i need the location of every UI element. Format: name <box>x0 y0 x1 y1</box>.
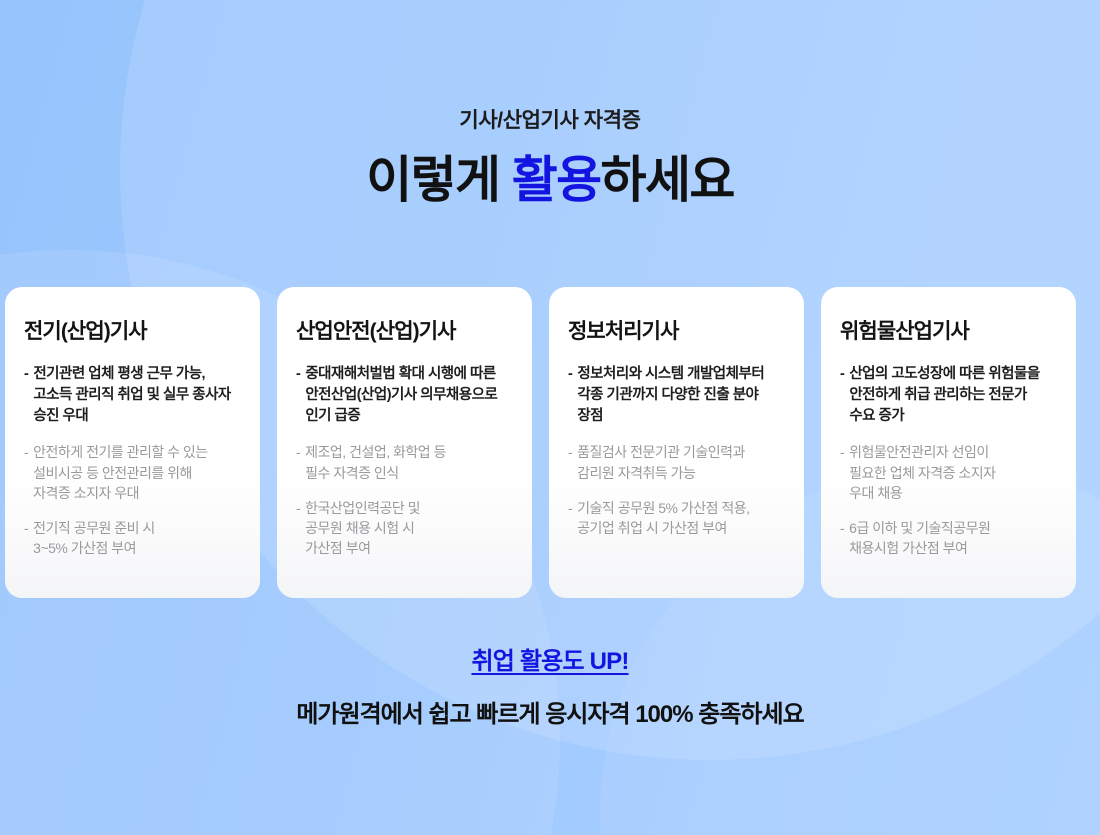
bullet-dash-icon: - <box>568 498 572 518</box>
bullet-dash-icon: - <box>24 442 28 462</box>
bullet-text: 품질검사 전문기관 기술인력과 감리원 자격취득 가능 <box>577 442 745 483</box>
bullet-dash-icon: - <box>840 442 844 462</box>
promo-page: 기사/산업기사 자격증 이렇게 활용하세요 전기(산업)기사-전기관련 업체 평… <box>0 0 1100 835</box>
card-title: 위험물산업기사 <box>840 319 1057 344</box>
certificate-card-list: 전기(산업)기사-전기관련 업체 평생 근무 가능, 고소득 관리직 취업 및 … <box>5 287 1095 598</box>
card-bullet: -정보처리와 시스템 개발업체부터 각종 기관까지 다양한 진출 분야 장점 <box>568 364 785 427</box>
bullet-text: 산업의 고도성장에 따른 위험물을 안전하게 취급 관리하는 전문가 수요 증가 <box>849 364 1039 427</box>
bullet-text: 기술직 공무원 5% 가산점 적용, 공기업 취업 시 가산점 부여 <box>577 498 749 539</box>
bullet-dash-icon: - <box>568 442 572 462</box>
certificate-card: 전기(산업)기사-전기관련 업체 평생 근무 가능, 고소득 관리직 취업 및 … <box>5 287 260 598</box>
bullet-text: 정보처리와 시스템 개발업체부터 각종 기관까지 다양한 진출 분야 장점 <box>577 364 764 427</box>
bullet-dash-icon: - <box>840 364 844 385</box>
headline-part-1: 이렇게 <box>366 152 512 208</box>
bullet-text: 위험물안전관리자 선임이 필요한 업체 자격증 소지자 우대 채용 <box>849 442 995 503</box>
card-bullet: -전기직 공무원 준비 시 3~5% 가산점 부여 <box>24 518 241 559</box>
bullet-dash-icon: - <box>24 518 28 538</box>
eyebrow-text: 기사/산업기사 자격증 <box>0 108 1100 133</box>
card-title: 정보처리기사 <box>568 319 785 344</box>
card-bullet: -산업의 고도성장에 따른 위험물을 안전하게 취급 관리하는 전문가 수요 증… <box>840 364 1057 427</box>
footer-cta-link[interactable]: 취업 활용도 UP! <box>471 641 628 676</box>
footer-subtitle: 메가원격에서 쉽고 빠르게 응시자격 100% 충족하세요 <box>0 694 1100 729</box>
card-bullet: -안전하게 전기를 관리할 수 있는 설비시공 등 안전관리를 위해 자격증 소… <box>24 442 241 503</box>
headline-part-2: 하세요 <box>601 152 734 208</box>
bullet-text: 중대재해처벌법 확대 시행에 따른 안전산업(산업)기사 의무채용으로 인기 급… <box>305 364 497 427</box>
headline-accent: 활용 <box>512 152 601 208</box>
bullet-dash-icon: - <box>568 364 572 385</box>
bullet-text: 한국산업인력공단 및 공무원 채용 시험 시 가산점 부여 <box>305 498 420 559</box>
card-title: 전기(산업)기사 <box>24 319 241 344</box>
bullet-dash-icon: - <box>296 498 300 518</box>
certificate-card: 정보처리기사-정보처리와 시스템 개발업체부터 각종 기관까지 다양한 진출 분… <box>549 287 804 598</box>
bullet-text: 전기관련 업체 평생 근무 가능, 고소득 관리직 취업 및 실무 종사자 승진… <box>33 364 230 427</box>
bullet-text: 6급 이하 및 기술직공무원 채용시험 가산점 부여 <box>849 518 990 559</box>
card-bullet: -품질검사 전문기관 기술인력과 감리원 자격취득 가능 <box>568 442 785 483</box>
bullet-dash-icon: - <box>296 364 300 385</box>
card-bullet: -기술직 공무원 5% 가산점 적용, 공기업 취업 시 가산점 부여 <box>568 498 785 539</box>
bullet-dash-icon: - <box>24 364 28 385</box>
card-bullet: -전기관련 업체 평생 근무 가능, 고소득 관리직 취업 및 실무 종사자 승… <box>24 364 241 427</box>
page-footer: 취업 활용도 UP! 메가원격에서 쉽고 빠르게 응시자격 100% 충족하세요 <box>0 641 1100 729</box>
page-header: 기사/산업기사 자격증 이렇게 활용하세요 <box>0 0 1100 208</box>
bullet-text: 안전하게 전기를 관리할 수 있는 설비시공 등 안전관리를 위해 자격증 소지… <box>33 442 208 503</box>
card-bullet: -중대재해처벌법 확대 시행에 따른 안전산업(산업)기사 의무채용으로 인기 … <box>296 364 513 427</box>
card-title: 산업안전(산업)기사 <box>296 319 513 344</box>
bullet-text: 제조업, 건설업, 화학업 등 필수 자격증 인식 <box>305 442 446 483</box>
card-bullet: -6급 이하 및 기술직공무원 채용시험 가산점 부여 <box>840 518 1057 559</box>
card-bullet: -제조업, 건설업, 화학업 등 필수 자격증 인식 <box>296 442 513 483</box>
card-bullet: -위험물안전관리자 선임이 필요한 업체 자격증 소지자 우대 채용 <box>840 442 1057 503</box>
card-bullet: -한국산업인력공단 및 공무원 채용 시험 시 가산점 부여 <box>296 498 513 559</box>
certificate-card: 산업안전(산업)기사-중대재해처벌법 확대 시행에 따른 안전산업(산업)기사 … <box>277 287 532 598</box>
certificate-card: 위험물산업기사-산업의 고도성장에 따른 위험물을 안전하게 취급 관리하는 전… <box>821 287 1076 598</box>
bullet-dash-icon: - <box>840 518 844 538</box>
bullet-text: 전기직 공무원 준비 시 3~5% 가산점 부여 <box>33 518 155 559</box>
bullet-dash-icon: - <box>296 442 300 462</box>
page-title: 이렇게 활용하세요 <box>0 153 1100 208</box>
